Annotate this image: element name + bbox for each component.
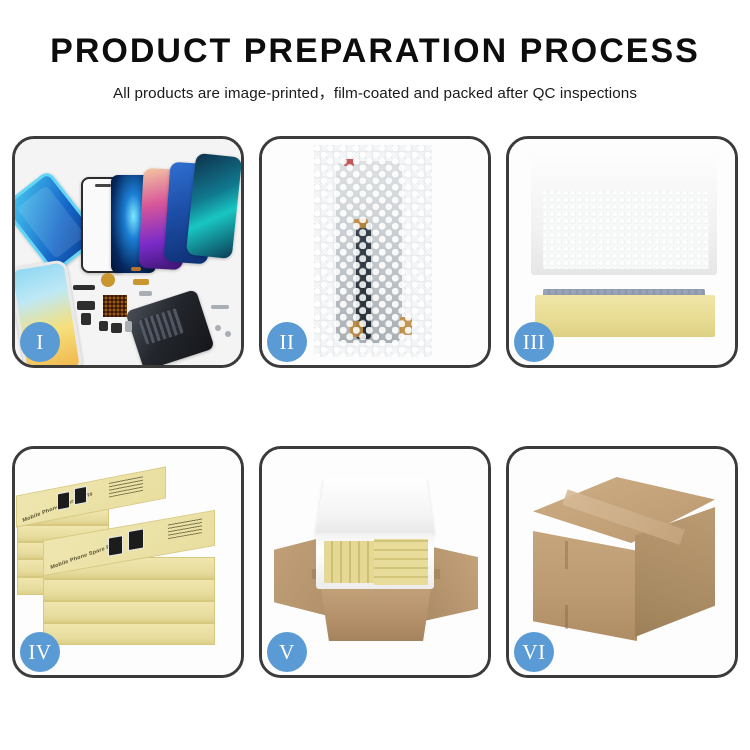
- product-preparation-process-infographic: PRODUCT PREPARATION PROCESS All products…: [0, 0, 750, 750]
- process-step-grid: I II III: [12, 136, 738, 678]
- connector-lower-left: [350, 321, 363, 337]
- process-step-6-sealed-shipping-carton: VI: [506, 446, 738, 678]
- screw-set-part: [125, 321, 132, 332]
- page-subtitle: All products are image-printed，film-coat…: [0, 81, 750, 103]
- camera-module-part: [77, 301, 95, 310]
- step-badge-2: II: [267, 322, 307, 362]
- carton-seam: [565, 541, 568, 569]
- display-flex-cable: [356, 223, 371, 339]
- retail-box: [43, 579, 215, 601]
- vibration-motor-part: [101, 273, 115, 287]
- process-step-5-carton-with-styrofoam-insert: V: [259, 446, 491, 678]
- taptic-engine-part: [111, 323, 122, 333]
- screw-part: [215, 325, 221, 331]
- phone-display-teal-swirl: [186, 153, 241, 259]
- yellow-box-tray: [535, 295, 715, 337]
- step-badge-5: V: [267, 632, 307, 672]
- earpiece-part: [99, 321, 108, 331]
- bubble-wrap-bag: [314, 145, 432, 357]
- step-badge-6: VI: [514, 632, 554, 672]
- step-badge-3: III: [514, 322, 554, 362]
- styrofoam-lid: [315, 477, 435, 537]
- box-artwork-screen: [57, 491, 70, 511]
- speaker-mesh-part: [73, 285, 95, 290]
- page-title: PRODUCT PREPARATION PROCESS: [0, 34, 750, 68]
- lcd-screen-assembly: [336, 161, 402, 343]
- header: PRODUCT PREPARATION PROCESS All products…: [0, 0, 750, 103]
- carton-front-face: [533, 531, 637, 641]
- retail-box: [43, 601, 215, 623]
- sim-tray-part: [81, 313, 91, 325]
- step-badge-4: IV: [20, 632, 60, 672]
- box-artwork-screen: [128, 528, 144, 551]
- foam-sheet-liner: [543, 191, 709, 269]
- power-button-flex-part: [139, 291, 152, 296]
- box-artwork-screen: [108, 535, 123, 557]
- connector-upper: [354, 219, 368, 228]
- screw-part: [225, 331, 231, 337]
- retail-box: [43, 623, 215, 645]
- volume-flex-part: [133, 279, 149, 285]
- connector-lower-right: [400, 317, 412, 335]
- step-badge-1: I: [20, 322, 60, 362]
- process-step-1-phone-screens-and-spare-parts: I: [12, 136, 244, 368]
- process-step-4-stacked-retail-boxes: Mobile Phone Spare Parts Mobile Phone Sp…: [12, 446, 244, 678]
- box-spec-lines: [168, 517, 202, 539]
- phone-back-housing-internals: [125, 289, 215, 365]
- tweezer-tool: [211, 305, 229, 309]
- qc-sticker: [344, 159, 354, 166]
- carton-seam: [565, 605, 568, 629]
- process-step-3-foam-lined-inner-box: III: [506, 136, 738, 368]
- box-spec-lines: [109, 475, 143, 498]
- packed-yellow-boxes-stack: [374, 539, 428, 585]
- process-step-2-bubble-wrapped-screen: II: [259, 136, 491, 368]
- connector-grid-part: [103, 295, 127, 317]
- box-artwork-screen: [74, 486, 87, 506]
- antenna-flex-part: [131, 267, 141, 271]
